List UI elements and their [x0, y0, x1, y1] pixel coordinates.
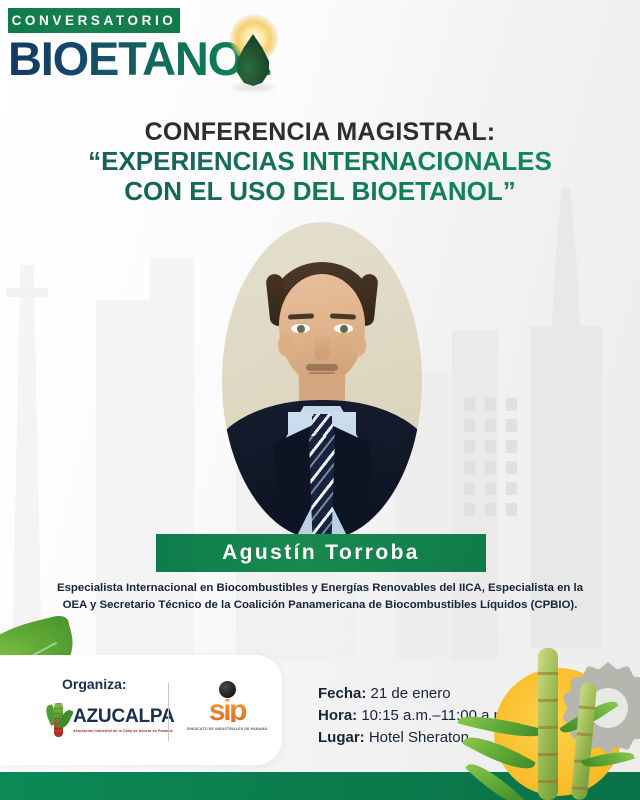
- speaker-bio: Especialista Internacional en Biocombust…: [48, 580, 592, 614]
- organizer-logo-azucalpa: AZUCALPA Asociación Industrial de la Cañ…: [48, 701, 174, 739]
- speaker-name-bar: Agustín Torroba: [156, 534, 486, 572]
- organizer-logo-sip: sip SINDICATO DE INDUSTRIALES DE PANAMÁ: [186, 681, 268, 731]
- sugarcane-illustration: [460, 610, 640, 800]
- conference-title-line2: “EXPERIENCIAS INTERNACIONALES: [0, 147, 640, 176]
- sugarcane-stalk-icon: [48, 701, 68, 739]
- portrait-eye-right: [334, 324, 353, 333]
- portrait-ear-right: [353, 334, 366, 356]
- smokestack-silhouette: [12, 265, 42, 665]
- skyline-tower: [530, 188, 602, 648]
- organiza-label: Organiza:: [62, 676, 127, 692]
- speaker-portrait: [222, 222, 422, 540]
- speaker-name: Agustín Torroba: [222, 541, 420, 565]
- conversatorio-banner: CONVERSATORIO: [8, 8, 180, 33]
- portrait-moustache: [306, 364, 338, 371]
- date-label: Fecha:: [318, 685, 366, 702]
- sip-name: sip: [186, 699, 268, 722]
- skyline-windows: [464, 398, 517, 516]
- conference-title-block: CONFERENCIA MAGISTRAL: “EXPERIENCIAS INT…: [0, 118, 640, 206]
- azucalpa-tagline: Asociación Industrial de la Caña de Azúc…: [73, 729, 174, 733]
- place-value: Hotel Sheraton: [369, 729, 469, 746]
- portrait-eye-left: [291, 324, 310, 333]
- droplet-shadow: [232, 84, 274, 91]
- sip-tagline: SINDICATO DE INDUSTRIALES DE PANAMÁ: [186, 727, 268, 731]
- cane-stalk: [538, 648, 558, 800]
- organizers-card: Organiza: AZUCALPA Asociación Industrial…: [0, 655, 282, 765]
- poster-canvas: CONVERSATORIO BIOETANOL CONFERENCIA MAGI…: [0, 0, 640, 800]
- conference-title-line1: CONFERENCIA MAGISTRAL:: [0, 118, 640, 146]
- date-value: 21 de enero: [371, 685, 451, 702]
- portrait-ear-left: [278, 334, 291, 356]
- bioethanol-droplet-flame-icon: [222, 18, 286, 96]
- smokestack-cap: [6, 288, 48, 297]
- conference-title-line3: CON EL USO DEL BIOETANOL”: [0, 177, 640, 206]
- conversatorio-label: CONVERSATORIO: [12, 14, 177, 28]
- place-label: Lugar:: [318, 729, 365, 746]
- time-label: Hora:: [318, 707, 357, 724]
- portrait-nose: [315, 334, 330, 361]
- azucalpa-name: AZUCALPA: [73, 707, 174, 726]
- organizer-divider: [168, 683, 169, 741]
